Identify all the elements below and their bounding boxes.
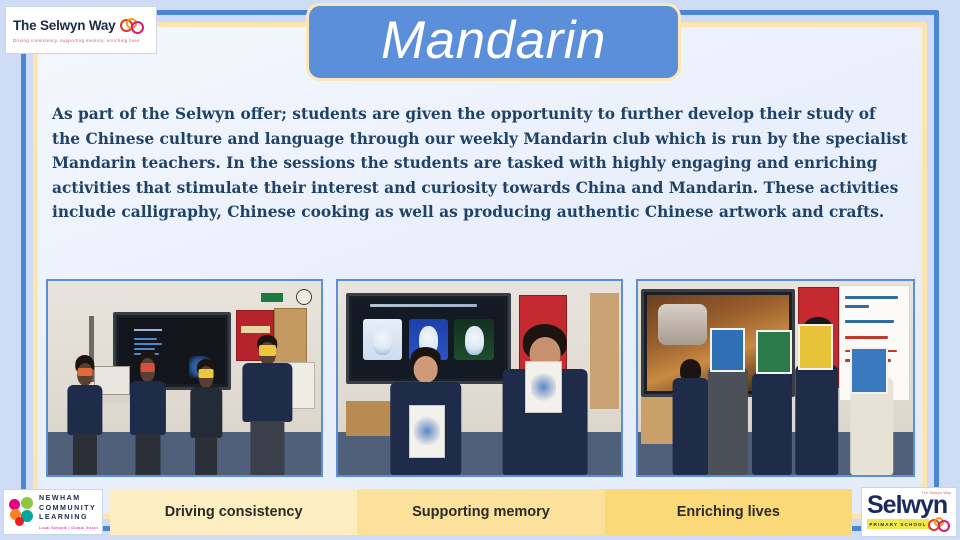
selwyn-logo-band: PRIMARY SCHOOL <box>867 519 929 529</box>
student-figure <box>239 335 296 475</box>
flipchart-line <box>845 320 894 323</box>
photo-opera-masks <box>636 279 915 477</box>
legs <box>251 421 284 475</box>
flipchart-line <box>845 296 898 299</box>
newham-logo-line2: COMMUNITY <box>39 504 98 514</box>
torso <box>243 363 292 422</box>
interlocking-rings-icon <box>120 18 146 34</box>
selwyn-way-tagline: Driving consistency, supporting memory, … <box>13 38 149 43</box>
photo-classroom-masks <box>46 279 323 477</box>
footer-band-enriching-lives: Enriching lives <box>605 489 852 535</box>
legs <box>195 437 217 475</box>
legs <box>135 434 160 475</box>
torso <box>708 367 748 475</box>
torso <box>190 387 221 438</box>
slide-title-banner: Mandarin <box>306 3 681 81</box>
door <box>590 293 618 409</box>
body-paragraph: As part of the Selwyn offer; students ar… <box>52 102 908 225</box>
flipchart-line <box>845 305 869 308</box>
selwyn-primary-school-logo: The Selwyn Way Selwyn PRIMARY SCHOOL <box>861 487 957 537</box>
smartboard-heading <box>134 329 161 332</box>
student-bookmark <box>525 361 562 413</box>
selwyn-logo-subtitle: PRIMARY SCHOOL <box>869 522 926 527</box>
newham-logo-text: NEWHAM COMMUNITY LEARNING Local Schools … <box>39 494 98 530</box>
paper-mask <box>259 345 275 356</box>
selwyn-way-logo-row: The Selwyn Way <box>13 18 149 34</box>
student-figure <box>62 355 108 475</box>
interlocking-rings-icon <box>928 517 952 534</box>
student-bookmark <box>409 405 446 457</box>
photo-row <box>46 279 915 477</box>
footer-band-driving-consistency: Driving consistency <box>110 489 357 535</box>
torso <box>795 365 839 475</box>
student-figure <box>184 359 228 475</box>
footer-value-bands: Driving consistency Supporting memory En… <box>110 489 852 535</box>
smartboard-bullet <box>134 343 161 345</box>
student-figure <box>124 351 170 475</box>
torso <box>751 373 791 475</box>
clock-icon <box>296 289 312 305</box>
torso <box>129 381 165 436</box>
exit-sign <box>261 293 283 302</box>
torso <box>67 385 102 436</box>
smartboard-caption <box>370 304 477 307</box>
selwyn-logo-name: Selwyn <box>867 493 947 518</box>
opera-mask-artwork <box>756 330 792 375</box>
slide: The Selwyn Way Driving consistency, supp… <box>0 0 960 540</box>
photo-1-scene <box>48 281 321 475</box>
opera-mask-artwork <box>850 347 888 394</box>
smartboard-bullet <box>134 338 157 340</box>
paper-mask <box>199 369 214 378</box>
footer: NEWHAM COMMUNITY LEARNING Local Schools … <box>0 486 960 540</box>
newham-logo-line3: LEARNING <box>39 513 98 523</box>
footer-band-supporting-memory: Supporting memory <box>357 489 604 535</box>
head <box>413 356 438 383</box>
paper-mask <box>77 368 92 376</box>
paper-mask <box>140 363 155 372</box>
flipchart-line <box>845 336 888 339</box>
opera-mask-artwork <box>710 328 746 373</box>
selwyn-way-title: The Selwyn Way <box>13 18 115 33</box>
photo-3-scene <box>638 281 913 475</box>
newham-logo-tagline: Local Schools | Global Vision <box>39 525 98 530</box>
legs <box>73 434 97 475</box>
newham-logo-line1: NEWHAM <box>39 494 98 504</box>
opera-mask-artwork <box>798 324 834 371</box>
page-title: Mandarin <box>381 14 606 67</box>
colored-dots-icon <box>9 497 35 527</box>
photo-2-scene <box>338 281 622 475</box>
newham-community-learning-logo: NEWHAM COMMUNITY LEARNING Local Schools … <box>3 489 103 535</box>
cooking-pot-image <box>658 304 706 345</box>
photo-bookmarks <box>336 279 624 477</box>
selwyn-way-logo: The Selwyn Way Driving consistency, supp… <box>5 6 157 54</box>
